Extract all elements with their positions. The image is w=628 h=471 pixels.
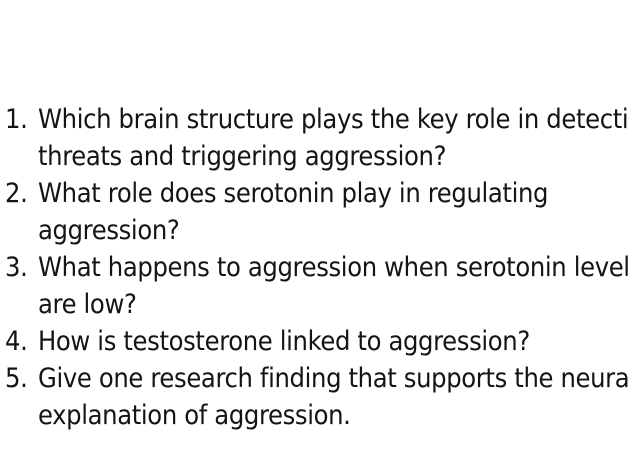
list-item: 5. Give one research finding that suppor… — [0, 360, 628, 434]
question-text-line: threats and triggering aggression? — [38, 138, 446, 175]
list-item: 4. How is testosterone linked to aggress… — [0, 323, 628, 360]
question-line: 1. Which brain structure plays the key r… — [0, 101, 628, 138]
question-number: 3. — [5, 249, 35, 286]
list-item: 2. What role does serotonin play in regu… — [0, 175, 628, 249]
question-line: aggression? — [0, 212, 628, 249]
question-text-line: are low? — [38, 286, 137, 323]
question-text-line: How is testosterone linked to aggression… — [38, 323, 530, 360]
question-line: 4. How is testosterone linked to aggress… — [0, 323, 628, 360]
question-line: explanation of aggression. — [0, 397, 628, 434]
question-number: 5. — [5, 360, 35, 397]
question-line: threats and triggering aggression? — [0, 138, 628, 175]
question-text-line: explanation of aggression. — [38, 397, 351, 434]
question-line: 2. What role does serotonin play in regu… — [0, 175, 628, 212]
question-list: 1. Which brain structure plays the key r… — [0, 101, 628, 434]
question-text-line: What role does serotonin play in regulat… — [38, 175, 548, 212]
slide-canvas: DO NOW: GIVE ME 5 NEURAL AND HORMONAL EX… — [0, 0, 628, 471]
list-item: 3. What happens to aggression when serot… — [0, 249, 628, 323]
question-number: 2. — [5, 175, 35, 212]
list-item: 1. Which brain structure plays the key r… — [0, 101, 628, 175]
question-line: 3. What happens to aggression when serot… — [0, 249, 628, 286]
question-number: 1. — [5, 101, 35, 138]
question-text-line: What happens to aggression when serotoni… — [38, 249, 628, 286]
question-number: 4. — [5, 323, 35, 360]
question-text-line: Which brain structure plays the key role… — [38, 101, 628, 138]
question-text-line: Give one research finding that supports … — [38, 360, 628, 397]
question-line: 5. Give one research finding that suppor… — [0, 360, 628, 397]
question-line: are low? — [0, 286, 628, 323]
question-text-line: aggression? — [38, 212, 179, 249]
